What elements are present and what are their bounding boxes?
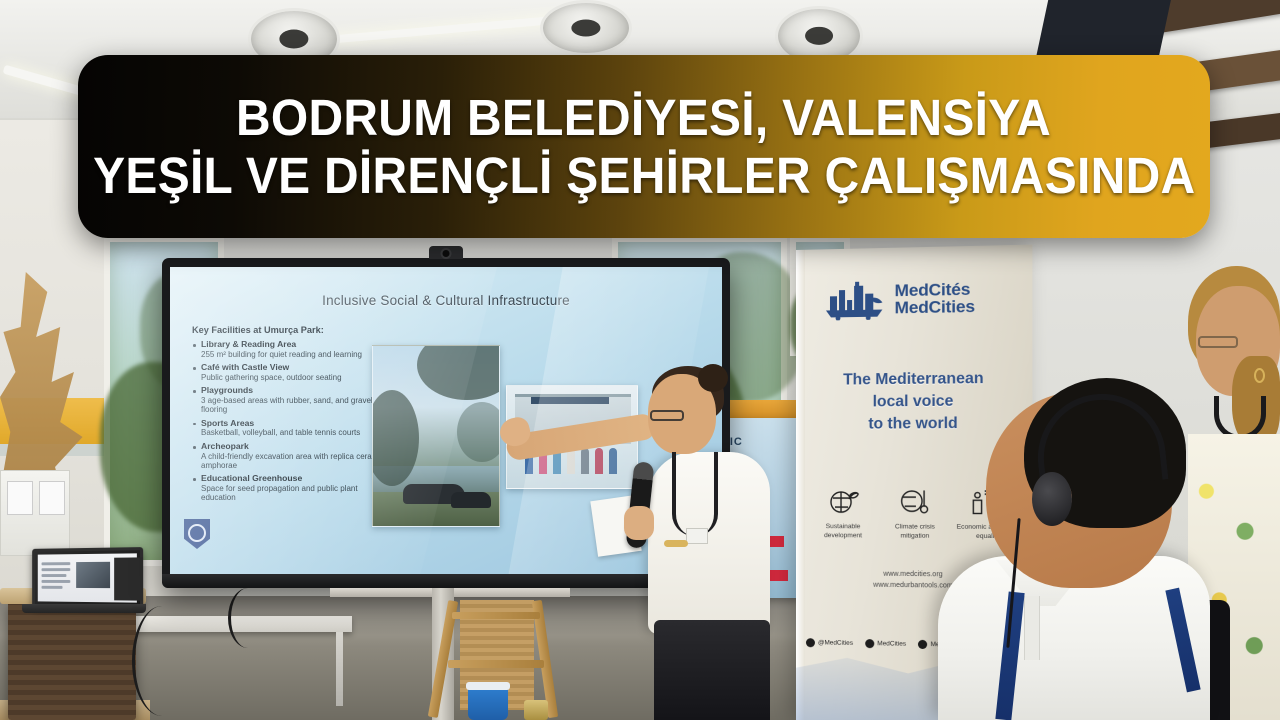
headline-banner: BODRUM BELEDİYESİ, VALENSİYA YEŞİL VE Dİ… <box>78 55 1210 238</box>
laptop-base <box>22 604 146 613</box>
man-polo-placket <box>1024 596 1040 660</box>
laptop-thumbnail <box>76 562 110 588</box>
easel-crossbar <box>448 660 544 668</box>
metal-can <box>524 700 548 720</box>
leaflet <box>39 481 65 515</box>
laptop-screen <box>32 547 143 609</box>
presenter-glasses <box>650 410 684 421</box>
icon-caption: Sustainable development <box>810 523 876 541</box>
leaflet <box>7 481 33 515</box>
bullet-subtext: Basketball, volleyball, and table tennis… <box>201 428 390 437</box>
logo-line-2: MedCities <box>895 298 975 317</box>
bullet-subtext: Public gathering space, outdoor seating <box>201 373 390 382</box>
bullet-heading: Café with Castle View <box>201 363 390 373</box>
globe-leaf-icon <box>810 480 876 520</box>
headset-earcup-icon <box>1032 472 1072 526</box>
wicker-podium <box>8 600 136 720</box>
cable <box>132 606 192 716</box>
municipality-crest-icon <box>184 519 210 549</box>
icon-caption: Climate crisis mitigation <box>881 523 948 541</box>
news-photo-with-headline: ATIC <box>0 0 1280 720</box>
social-item: @MedCities <box>806 638 853 648</box>
presenter-bracelet <box>664 540 688 547</box>
presenter-mic-hand <box>624 506 654 540</box>
facebook-icon <box>865 639 874 648</box>
slide-bullet: Library & Reading Area 255 m² building f… <box>192 340 390 359</box>
bullet-heading: Playgrounds <box>201 386 390 396</box>
bullet-heading: Archeopark <box>201 442 390 452</box>
laptop-side-panel <box>114 557 143 600</box>
medcities-logo: MedCités MedCities <box>824 267 1018 329</box>
bullet-subtext: 3 age-based areas with rubber, sand, and… <box>201 396 390 414</box>
globe-thermometer-icon <box>881 480 948 521</box>
display-camera-icon <box>429 246 463 259</box>
slide-bullet-list: Key Facilities at Umurça Park: Library &… <box>192 325 390 507</box>
slide-bullet: Playgrounds 3 age-based areas with rubbe… <box>192 386 390 414</box>
headline-line-1: BODRUM BELEDİYESİ, VALENSİYA <box>236 89 1051 146</box>
cable <box>228 588 268 648</box>
presenter-skirt <box>654 620 770 720</box>
linkedin-icon <box>918 640 927 649</box>
tagline-line-2: local voice <box>796 390 1032 414</box>
headline-line-2: YEŞİL VE DİRENÇLİ ŞEHİRLER ÇALIŞMASINDA <box>93 147 1195 204</box>
presenter-lanyard <box>672 452 718 536</box>
bench-leg <box>336 632 343 706</box>
slide-lead-text: Key Facilities at Umurça Park: <box>192 325 390 335</box>
ceiling-vent-icon <box>540 0 632 56</box>
slide-bullet: Café with Castle View Public gathering s… <box>192 363 390 382</box>
slide-bullet: Educational Greenhouse Space for seed pr… <box>192 474 390 502</box>
blue-cup <box>468 686 508 720</box>
social-handle: MedCities <box>877 640 906 648</box>
laptop-ui <box>38 553 137 602</box>
medcities-skyline-icon <box>824 279 886 320</box>
presenter-hair-bun <box>698 364 728 392</box>
bullet-subtext: 255 m² building for quiet reading and le… <box>201 350 390 359</box>
tagline-line-3: to the world <box>796 412 1032 436</box>
bullet-subtext: Space for seed propagation and public pl… <box>201 484 390 502</box>
slide-title: Inclusive Social & Cultural Infrastructu… <box>170 293 722 308</box>
x-twitter-icon <box>806 638 815 647</box>
rollup-icon-item: Climate crisis mitigation <box>881 480 948 541</box>
display-bezel <box>162 574 730 588</box>
medcities-wordmark: MedCités MedCities <box>895 280 975 317</box>
bullet-heading: Sports Areas <box>201 419 390 429</box>
presenter-badge <box>686 528 708 544</box>
slide-photo-park <box>372 345 500 527</box>
woman-earring <box>1254 368 1265 383</box>
social-item: MedCities <box>865 639 906 649</box>
social-handle: @MedCities <box>818 639 853 647</box>
rollup-tagline: The Mediterranean local voice to the wor… <box>796 367 1032 436</box>
banner-edge <box>796 250 805 720</box>
easel-crossbar <box>452 612 540 619</box>
tagline-line-1: The Mediterranean <box>796 367 1032 392</box>
bullet-heading: Library & Reading Area <box>201 340 390 350</box>
bullet-subtext: A child-friendly excavation area with re… <box>201 452 390 470</box>
rollup-icon-item: Sustainable development <box>810 480 876 541</box>
wall-cabinet <box>0 470 70 556</box>
slide-bullet: Archeopark A child-friendly excavation a… <box>192 442 390 470</box>
woman-glasses <box>1198 336 1238 348</box>
bullet-heading: Educational Greenhouse <box>201 474 390 484</box>
slide-bullet: Sports Areas Basketball, volleyball, and… <box>192 419 390 438</box>
